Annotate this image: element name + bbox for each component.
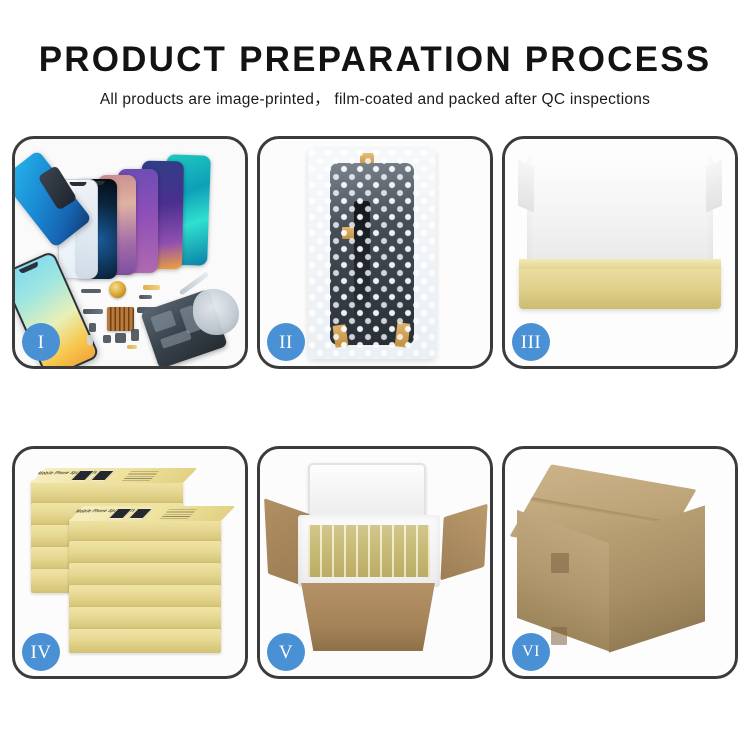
page-header: PRODUCT PREPARATION PROCESS All products… (0, 0, 750, 111)
process-step-5[interactable]: V (257, 446, 493, 679)
process-step-6[interactable]: VI (502, 446, 738, 679)
process-step-1[interactable]: I (12, 136, 248, 369)
foam-box (298, 515, 440, 587)
speaker-coil-part (109, 281, 126, 298)
big-phone-notch-icon (19, 262, 39, 275)
process-step-grid: I II III (12, 136, 738, 681)
process-step-3[interactable]: III (502, 136, 738, 369)
step-4-image: Mobile Phone Spare Parts Mobile Phone Sp… (15, 449, 245, 676)
step-6-image: VI (505, 449, 735, 676)
spare-part-flex-cable-2 (83, 309, 103, 314)
page-subtitle: All products are image-printed， film-coa… (0, 89, 750, 111)
step-2-image: II (260, 139, 490, 366)
carton-tape-patch-bottom (551, 627, 567, 645)
step-badge-2: II (267, 323, 305, 361)
process-step-4[interactable]: Mobile Phone Spare Parts Mobile Phone Sp… (12, 446, 248, 679)
yellow-box-tray (519, 265, 721, 309)
spare-part-box (69, 585, 221, 609)
spare-part-box: Mobile Phone Spare Parts (69, 519, 221, 543)
spare-part-sim-tray (87, 335, 93, 345)
white-box-lid (527, 157, 713, 275)
spare-part-box: Mobile Phone Spare Parts (31, 481, 183, 505)
step-1-image: I (15, 139, 245, 366)
step-3-image: III (505, 139, 735, 366)
carton-flap-right (440, 504, 487, 581)
spare-part-flex-cable (139, 295, 152, 299)
spare-part-gold-contact (127, 345, 137, 349)
glass-notch-icon (70, 182, 87, 186)
repair-tool-tweezers (193, 289, 239, 335)
product-preparation-page: PRODUCT PREPARATION PROCESS All products… (0, 0, 750, 750)
bubble-wrap-bag (308, 149, 436, 359)
step-badge-4: IV (22, 633, 60, 671)
packed-yellow-boxes (308, 525, 430, 577)
spare-part-speaker (115, 333, 126, 343)
yellow-box-stack: Mobile Phone Spare Parts Mobile Phone Sp… (27, 471, 237, 661)
page-title: PRODUCT PREPARATION PROCESS (0, 38, 750, 82)
foam-box-lid (308, 463, 426, 519)
spare-part-box (69, 541, 221, 565)
carton-body (292, 583, 444, 651)
process-step-2[interactable]: II (257, 136, 493, 369)
spare-part-camera-module (103, 335, 111, 343)
spare-part-button (89, 323, 96, 332)
carton-tape-patch-top (551, 553, 569, 573)
spare-part-gold-bracket (143, 285, 160, 290)
step-badge-3: III (512, 323, 550, 361)
step-badge-5: V (267, 633, 305, 671)
spare-part-box (69, 629, 221, 653)
spare-part-battery-connector (131, 329, 139, 341)
step-badge-6: VI (512, 633, 550, 671)
chip-array-part (107, 307, 134, 331)
step-5-image: V (260, 449, 490, 676)
spare-part-strip (81, 289, 101, 293)
spare-part-box (69, 607, 221, 631)
step-badge-1: I (22, 323, 60, 361)
bubble-texture (308, 149, 436, 359)
spare-part-box (69, 563, 221, 587)
